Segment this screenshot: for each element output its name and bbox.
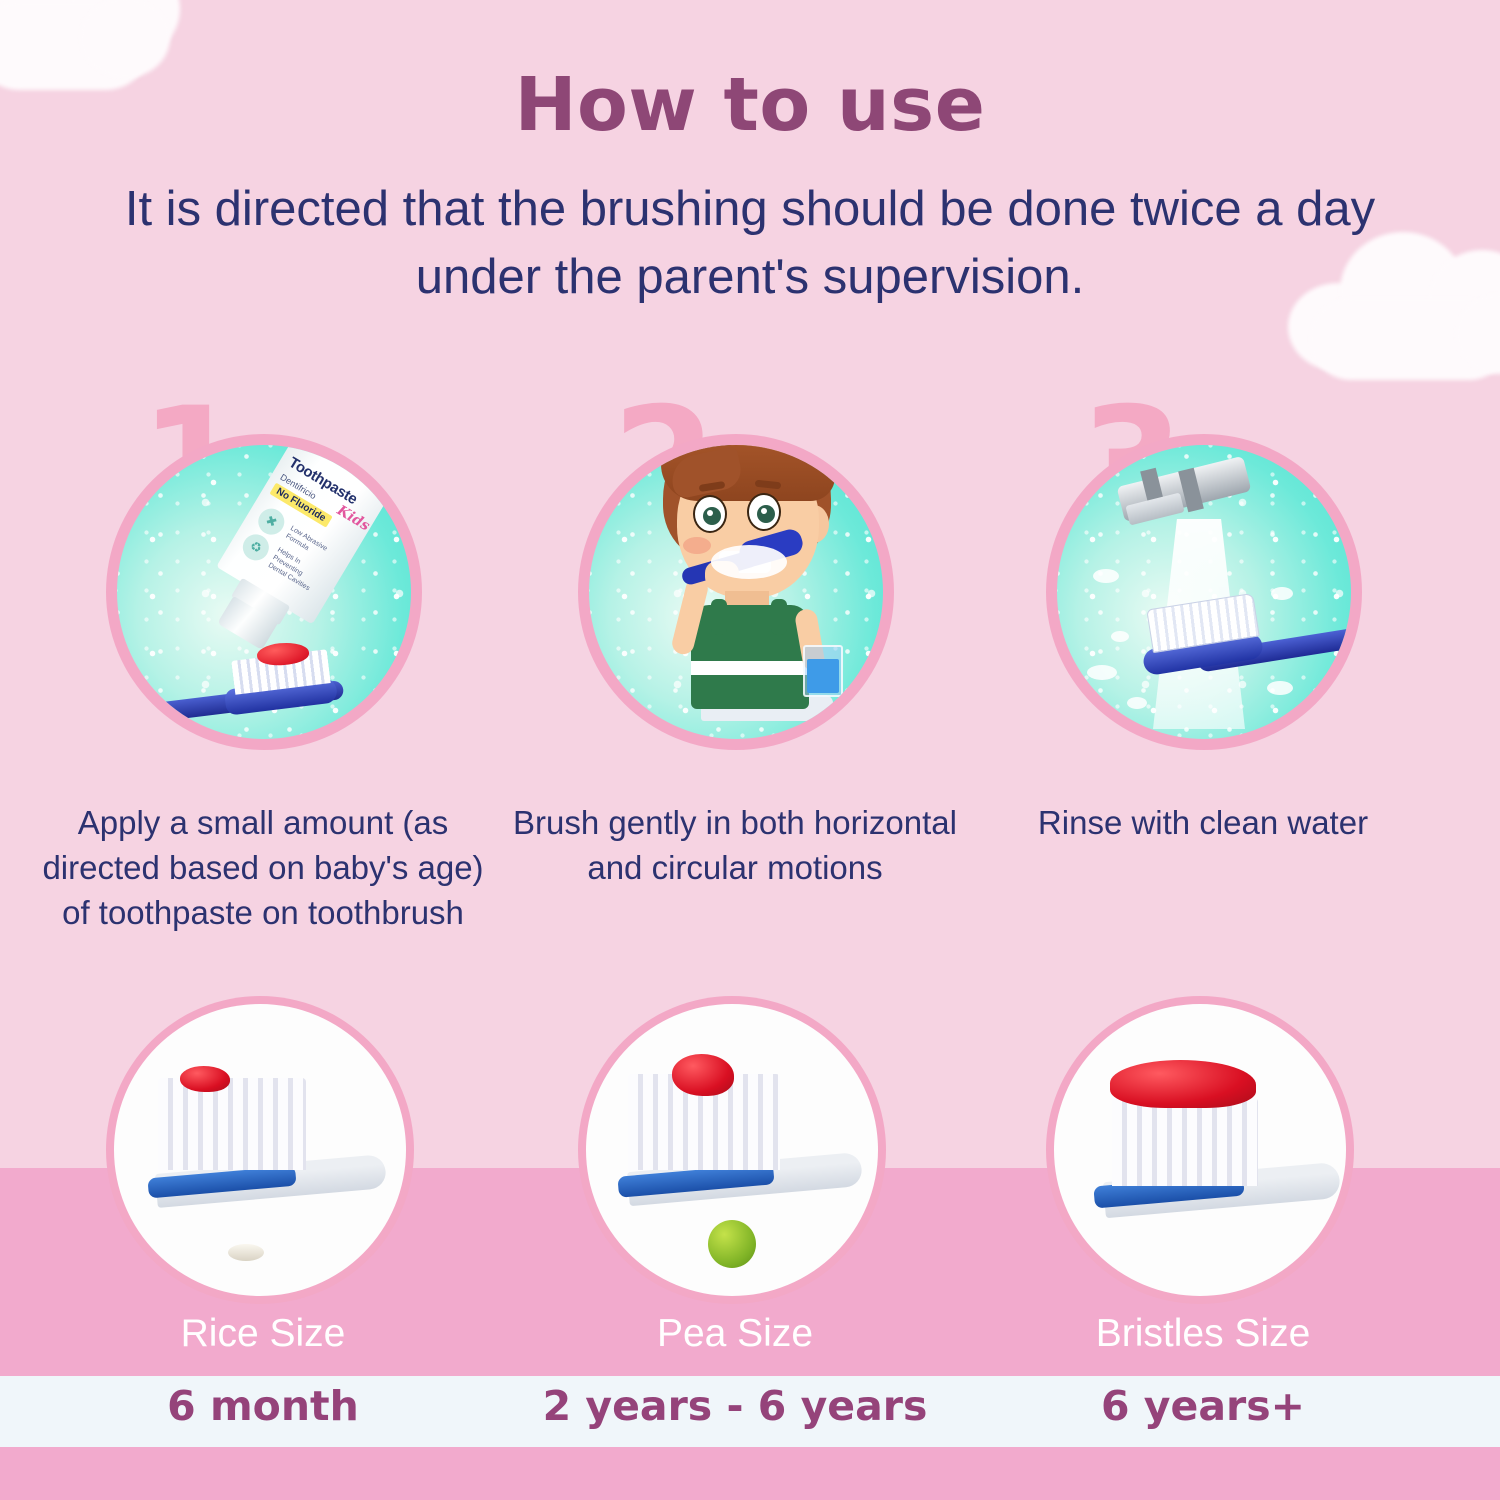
bristles-size-image: [1046, 996, 1354, 1304]
toothpaste-dab-icon: [180, 1066, 230, 1092]
pea-size-image: [578, 996, 886, 1304]
step-1-image: Toothpaste Kids Dentifricio No Fluoride …: [106, 434, 422, 750]
step-3-image: [1046, 434, 1362, 750]
toothpaste-dab-icon: [672, 1054, 734, 1096]
toothpaste-dab-icon: [1110, 1060, 1256, 1108]
infographic-page: How to use It is directed that the brush…: [0, 0, 1500, 1500]
background-band-bottom: [0, 1447, 1500, 1500]
step-2-caption: Brush gently in both horizontal and circ…: [500, 800, 970, 890]
size-comparison-row: Rice Size 6 month Pea Size 2 years - 6 y…: [0, 996, 1500, 1296]
toothbrush-icon: [129, 641, 359, 731]
steps-row: 1 Toothpaste Kids Dentifricio No Fluorid…: [0, 400, 1500, 960]
rice-grain-icon: [228, 1244, 264, 1261]
age-label-bristles: 6 years+: [968, 1382, 1438, 1430]
green-pea-icon: [708, 1220, 756, 1268]
toothbrush-icon: [1093, 595, 1351, 685]
page-subtitle: It is directed that the brushing should …: [120, 175, 1380, 311]
size-label-bristles: Bristles Size: [968, 1312, 1438, 1356]
child-brushing-icon: [627, 445, 867, 739]
rice-size-image: [106, 996, 414, 1304]
step-3-caption: Rinse with clean water: [968, 800, 1438, 845]
age-label-pea: 2 years - 6 years: [500, 1382, 970, 1430]
step-2-image: [578, 434, 894, 750]
faucet-icon: [1109, 445, 1269, 551]
age-label-rice: 6 month: [28, 1382, 498, 1430]
tube-kids-text: Kids: [334, 502, 372, 534]
page-title: How to use: [0, 62, 1500, 148]
step-1-caption: Apply a small amount (as directed based …: [28, 800, 498, 935]
size-label-rice: Rice Size: [28, 1312, 498, 1356]
tooth-icon: ♻: [238, 530, 274, 566]
size-label-pea: Pea Size: [500, 1312, 970, 1356]
